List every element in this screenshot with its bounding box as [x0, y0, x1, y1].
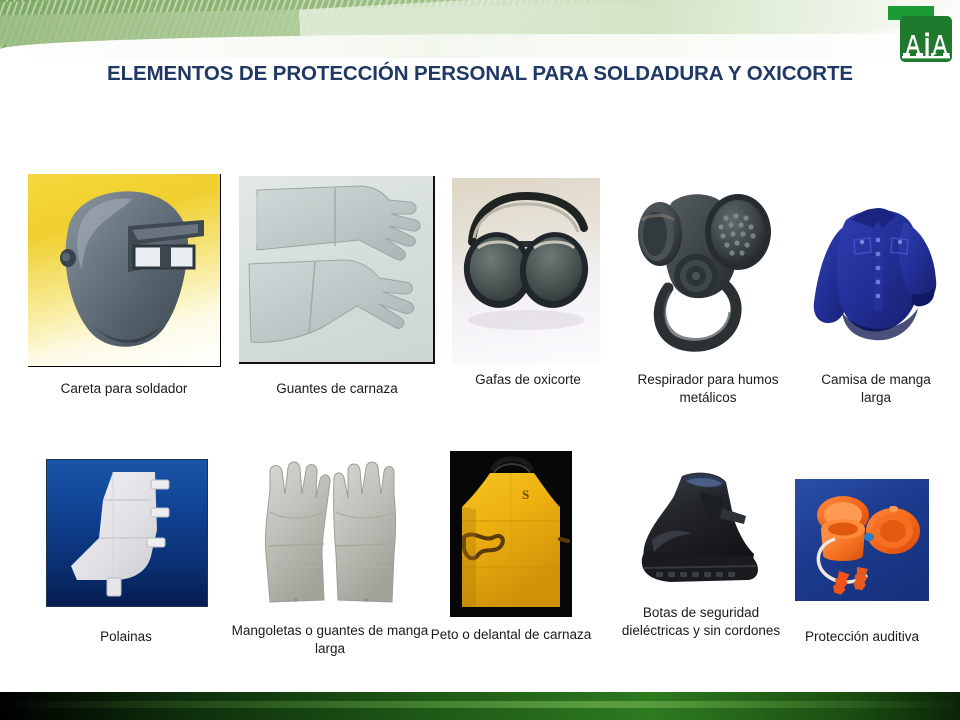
leather-apron-illustration: S: [450, 451, 572, 617]
leather-apron-photo: S: [450, 451, 572, 617]
caption-botas-de-seguridad-dielectricas-y-sin-cordones: Botas de seguridad dieléctricas y sin co…: [608, 604, 794, 639]
footer-bar: [0, 692, 960, 720]
safety-boots-photo: [622, 462, 780, 602]
safety-boots-illustration: [622, 462, 780, 602]
leather-gloves-photo: [239, 176, 435, 364]
long-sleeve-shirt-illustration: [808, 184, 942, 362]
footer-sheen: [0, 701, 960, 708]
cutting-goggles-photo: [452, 178, 600, 364]
ear-protection-illustration: [795, 479, 929, 601]
welding-helmet-illustration: [28, 174, 220, 366]
caption-guantes-de-carnaza: Guantes de carnaza: [252, 380, 422, 398]
welding-helmet-photo: [28, 174, 221, 367]
long-cuff-gloves-photo: [240, 450, 420, 616]
caption-careta-para-soldador: Careta para soldador: [10, 380, 238, 398]
caption-mangoletas-o-guantes-de-manga-larga: Mangoletas o guantes de manga larga: [218, 622, 442, 657]
caption-polainas: Polainas: [46, 628, 206, 646]
caption-peto-o-delantal-de-carnaza: Peto o delantal de carnaza: [424, 626, 598, 644]
caption-camisa-de-manga-larga: Camisa de manga larga: [806, 371, 946, 406]
caption-proteccion-auditiva: Protección auditiva: [792, 628, 932, 646]
cutting-goggles-illustration: [452, 178, 600, 364]
caption-gafas-de-oxicorte: Gafas de oxicorte: [466, 371, 590, 389]
respirator-illustration: [630, 172, 782, 362]
respirator-photo: [630, 172, 782, 362]
long-sleeve-shirt-photo: [808, 184, 942, 362]
ear-protection-photo: [795, 479, 929, 601]
leather-gloves-illustration: [239, 176, 433, 362]
ppe-items-grid: Careta para soldador: [0, 0, 960, 720]
caption-respirador-para-humos-metalicos: Respirador para humos metálicos: [620, 371, 796, 406]
leggings-photo: [46, 459, 208, 607]
slide-root: ELEMENTOS DE PROTECCIÓN PERSONAL PARA SO…: [0, 0, 960, 720]
svg-text:S: S: [522, 487, 529, 502]
leggings-illustration: [47, 460, 207, 606]
long-cuff-gloves-illustration: [240, 450, 420, 616]
